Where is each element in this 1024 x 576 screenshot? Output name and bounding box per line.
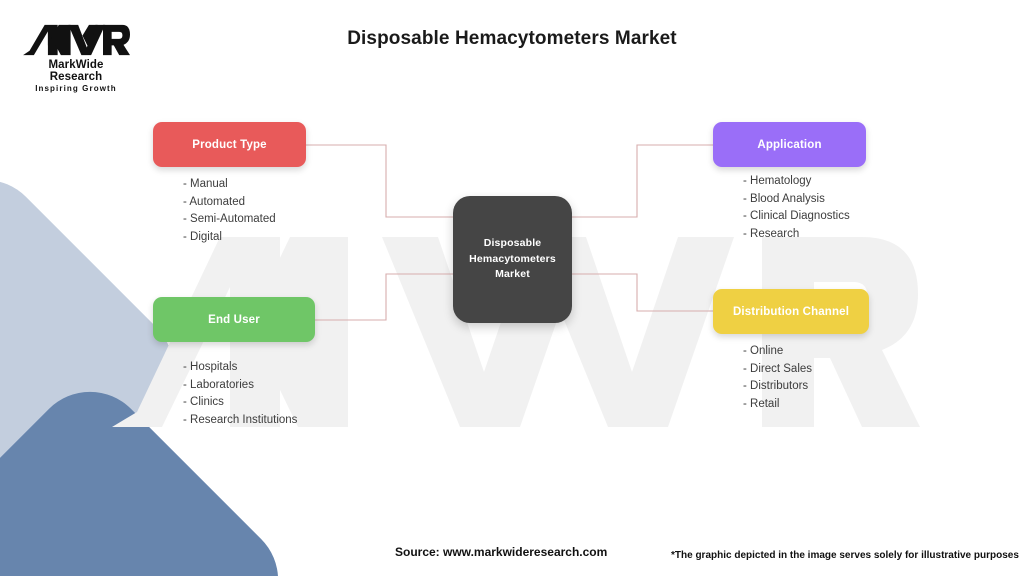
connector-product bbox=[306, 145, 453, 217]
list-item: - Hematology bbox=[743, 173, 850, 191]
connector-enduser bbox=[315, 274, 453, 320]
list-item: - Hospitals bbox=[183, 359, 297, 377]
list-item: - Retail bbox=[743, 396, 812, 414]
list-item: - Semi-Automated bbox=[183, 211, 276, 229]
disclaimer-text: *The graphic depicted in the image serve… bbox=[671, 550, 1019, 561]
branch-items-distribution-channel: - Online - Direct Sales - Distributors -… bbox=[743, 343, 812, 413]
center-line-3: Market bbox=[495, 267, 530, 283]
list-item: - Automated bbox=[183, 194, 276, 212]
connector-application bbox=[572, 145, 713, 217]
branch-node-end-user[interactable]: End User bbox=[153, 297, 315, 342]
branch-label-product-type: Product Type bbox=[192, 139, 266, 151]
connector-distribution bbox=[572, 274, 713, 311]
branch-node-product-type[interactable]: Product Type bbox=[153, 122, 306, 167]
list-item: - Digital bbox=[183, 229, 276, 247]
list-item: - Blood Analysis bbox=[743, 191, 850, 209]
list-item: - Research Institutions bbox=[183, 412, 297, 430]
branch-node-distribution-channel[interactable]: Distribution Channel bbox=[713, 289, 869, 334]
branch-label-distribution-channel: Distribution Channel bbox=[733, 306, 849, 318]
branch-node-application[interactable]: Application bbox=[713, 122, 866, 167]
branch-label-application: Application bbox=[757, 139, 821, 151]
list-item: - Online bbox=[743, 343, 812, 361]
list-item: - Clinical Diagnostics bbox=[743, 208, 850, 226]
center-node[interactable]: Disposable Hemacytometers Market bbox=[453, 196, 572, 323]
list-item: - Manual bbox=[183, 176, 276, 194]
list-item: - Laboratories bbox=[183, 377, 297, 395]
branch-items-end-user: - Hospitals - Laboratories - Clinics - R… bbox=[183, 359, 297, 429]
branch-items-product-type: - Manual - Automated - Semi-Automated - … bbox=[183, 176, 276, 246]
list-item: - Clinics bbox=[183, 394, 297, 412]
infographic-canvas: MarkWide Research Inspiring Growth Dispo… bbox=[0, 0, 1024, 576]
branch-label-end-user: End User bbox=[208, 314, 260, 326]
center-line-2: Hemacytometers bbox=[469, 252, 556, 268]
list-item: - Distributors bbox=[743, 378, 812, 396]
source-attribution: Source: www.markwideresearch.com bbox=[395, 545, 607, 559]
list-item: - Research bbox=[743, 226, 850, 244]
list-item: - Direct Sales bbox=[743, 361, 812, 379]
center-line-1: Disposable bbox=[484, 236, 542, 252]
branch-items-application: - Hematology - Blood Analysis - Clinical… bbox=[743, 173, 850, 243]
